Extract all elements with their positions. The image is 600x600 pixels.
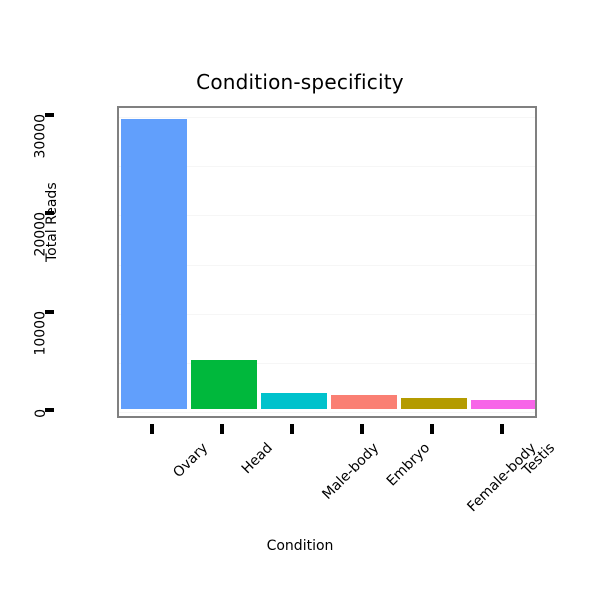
x-axis-tick — [150, 424, 154, 434]
bar[interactable] — [401, 398, 467, 409]
x-axis-tick-label: Male-body — [319, 440, 382, 503]
bar[interactable] — [121, 119, 187, 409]
y-axis-tick-label: 20000 — [33, 212, 49, 257]
y-axis-tick-label: 30000 — [33, 114, 49, 159]
y-axis-tick-label: 10000 — [33, 311, 49, 356]
bar[interactable] — [331, 395, 397, 409]
x-axis-tick-label: Embryo — [384, 440, 433, 489]
x-axis-tick-label: Ovary — [170, 440, 211, 481]
x-axis-tick — [290, 424, 294, 434]
bar-chart: Condition-specificity Total Reads 010000… — [0, 0, 600, 600]
x-axis-tick — [430, 424, 434, 434]
x-axis-title: Condition — [0, 538, 600, 554]
x-axis-tick-label: Head — [239, 440, 276, 477]
plot-area — [117, 106, 537, 418]
x-axis-tick — [220, 424, 224, 434]
x-axis: Condition OvaryHeadMale-bodyEmbryoFemale… — [0, 418, 600, 600]
x-axis-tick — [360, 424, 364, 434]
y-axis-tick-label: 0 — [33, 409, 49, 418]
bar[interactable] — [261, 393, 327, 409]
x-axis-tick — [500, 424, 504, 434]
bar[interactable] — [191, 360, 257, 409]
bars-group — [119, 108, 535, 416]
x-axis-tick-label: Female-body — [464, 440, 539, 515]
bar[interactable] — [471, 400, 537, 409]
